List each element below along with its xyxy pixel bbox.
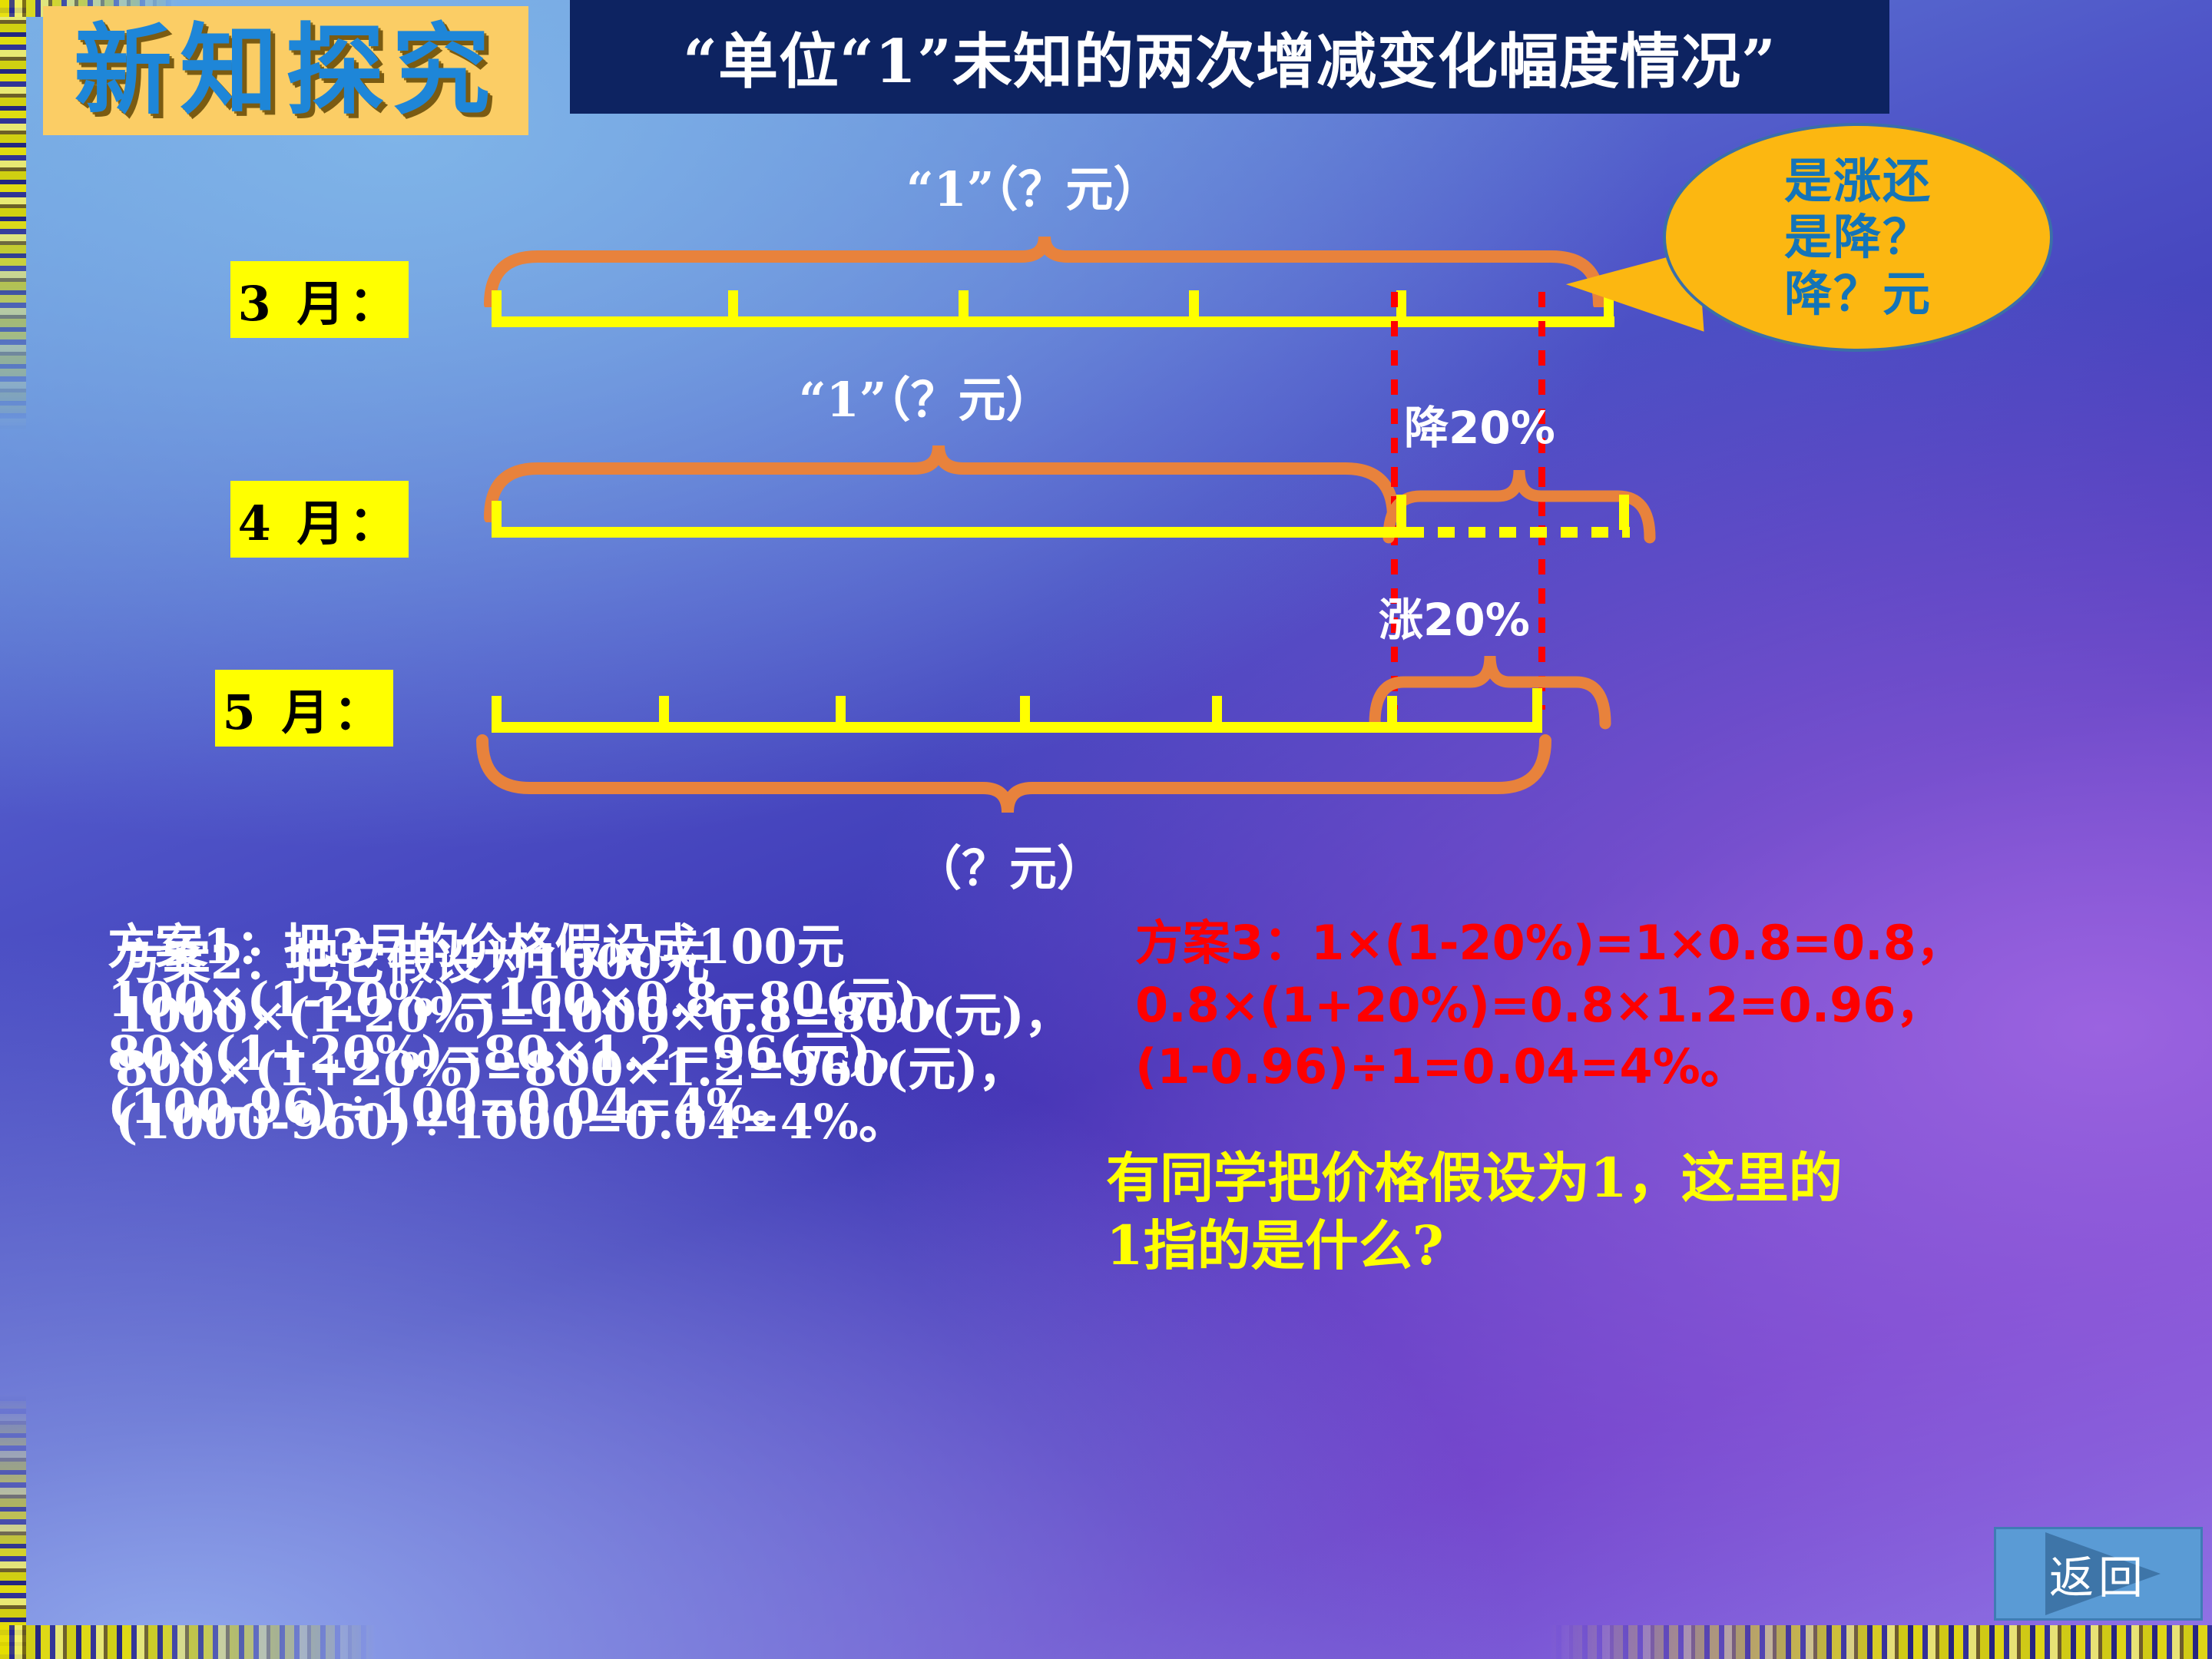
tick-april-0 [492, 501, 502, 528]
mid-brace-label: “1”（？元） [799, 361, 1053, 430]
tick-march-0 [492, 290, 502, 318]
bar-may [492, 722, 1542, 733]
tick-april-1 [1396, 495, 1406, 530]
return-button[interactable]: 返回 [1994, 1527, 2203, 1621]
top-brace-icon [484, 230, 1613, 307]
question-line-1: 有同学把价格假设为1，这里的 [1106, 1144, 2012, 1212]
solution-2-line-3: 800×(1+20%)=800×1.2=960(元)， [115, 1042, 1072, 1095]
bottom-brace-label: （？元） [914, 829, 1104, 899]
speech-bubble-text: 是涨还 是降？ 降？元 [1784, 153, 1932, 321]
return-button-label: 返回 [2049, 1541, 2147, 1606]
top-brace-label: “1”（？元） [906, 151, 1161, 220]
bar-march [492, 316, 1614, 327]
question-line-2: 1指的是什么? [1106, 1212, 2012, 1280]
section-badge-label: 新知探究 [74, 22, 498, 120]
row-label-march: 3 月： [230, 261, 409, 338]
page-title: “单位“1”未知的两次增减变化幅度情况” [683, 14, 1777, 100]
bar-april [492, 527, 1407, 538]
row-label-may: 5 月： [215, 670, 393, 747]
increase-brace-icon [1369, 637, 1614, 730]
tick-may-4 [1212, 696, 1222, 724]
solution-3-line-3: (1-0.96)÷1=0.04=4%。 [1135, 1036, 1964, 1098]
tick-may-3 [1020, 696, 1030, 724]
speech-bubble-line-1: 是涨还 [1784, 153, 1932, 209]
decorative-left-border [0, 0, 26, 1659]
tick-april-2 [1619, 495, 1629, 530]
mid-brace-icon [484, 438, 1406, 522]
question-block: 有同学把价格假设为1，这里的 1指的是什么? [1106, 1144, 2012, 1279]
bar-april-dashed [1407, 527, 1630, 538]
solution-3-block: 方案3：1×(1-20%)=1×0.8=0.8， 0.8×(1+20%)=0.8… [1135, 912, 1964, 1098]
tick-may-2 [836, 696, 846, 724]
tick-may-5 [1387, 696, 1397, 724]
solution-2-line-4: (1000-960)÷1000=0.04=4%。 [115, 1095, 1072, 1148]
tick-may-6 [1532, 688, 1542, 731]
tick-march-2 [959, 290, 969, 318]
tick-march-3 [1189, 290, 1199, 318]
page-title-bar: “单位“1”未知的两次增减变化幅度情况” [570, 0, 1889, 114]
row-label-april: 4 月： [230, 481, 409, 558]
solution-3-line-1: 方案3：1×(1-20%)=1×0.8=0.8， [1135, 912, 1964, 975]
tick-march-1 [728, 290, 738, 318]
solution-2-block: 方案2：把它假设为1000元 1000×(1-20%)=1000×0.8=800… [115, 935, 1072, 1149]
tick-may-1 [659, 696, 669, 724]
solution-2-line-2: 1000×(1-20%)=1000×0.8=800(元)， [115, 988, 1072, 1041]
solution-2-line-1: 方案2：把它假设为1000元 [115, 935, 1072, 988]
speech-bubble-line-3: 降？元 [1784, 266, 1932, 322]
speech-bubble-line-2: 是降？ [1784, 209, 1932, 265]
section-badge: 新知探究 [43, 6, 528, 135]
bottom-brace-icon [476, 734, 1559, 826]
speech-bubble: 是涨还 是降？ 降？元 [1663, 123, 2053, 352]
decrease-percent-label: 降20% [1404, 392, 1555, 456]
tick-may-0 [492, 696, 502, 724]
decorative-bottom-border [0, 1625, 2212, 1659]
solution-3-line-2: 0.8×(1+20%)=0.8×1.2=0.96， [1135, 975, 1964, 1037]
